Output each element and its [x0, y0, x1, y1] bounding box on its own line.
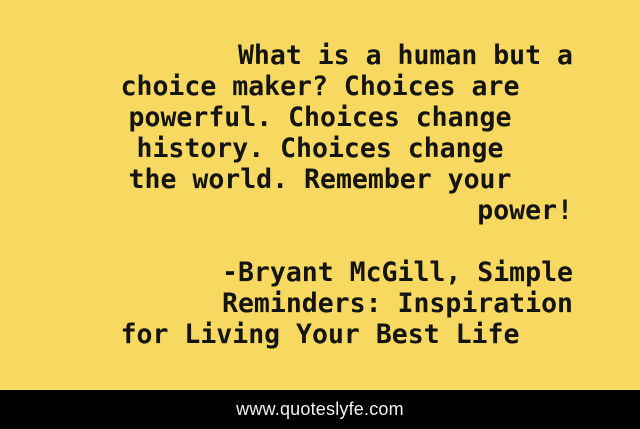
quote-line: choice maker? Choices are	[67, 71, 573, 102]
quote-content: What is a human but a choice maker? Choi…	[67, 40, 573, 350]
quote-line: the world. Remember your	[67, 164, 573, 195]
quote-line: history. Choices change	[67, 133, 573, 164]
footer-bar: www.quoteslyfe.com	[0, 390, 640, 429]
quote-line: power!	[67, 195, 573, 226]
quote-text: What is a human but a choice maker? Choi…	[67, 40, 573, 226]
quote-line: powerful. Choices change	[67, 102, 573, 133]
attribution-line: for Living Your Best Life	[67, 319, 573, 350]
attribution-line: Reminders: Inspiration	[67, 288, 573, 319]
site-url: www.quoteslyfe.com	[236, 399, 404, 420]
quote-line: What is a human but a	[67, 40, 573, 71]
quote-attribution-spacer	[67, 226, 573, 257]
quote-card: What is a human but a choice maker? Choi…	[0, 0, 640, 429]
attribution-line: -Bryant McGill, Simple	[67, 257, 573, 288]
quote-attribution: -Bryant McGill, Simple Reminders: Inspir…	[67, 257, 573, 350]
